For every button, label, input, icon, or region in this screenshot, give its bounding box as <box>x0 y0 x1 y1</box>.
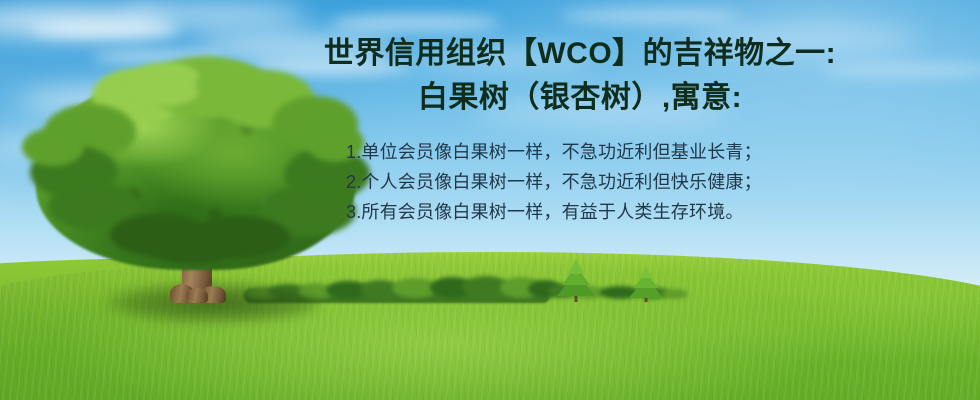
tree-root <box>186 288 208 303</box>
ginkgo-tree <box>0 0 980 400</box>
wco-mascot-banner: 世界信用组织【WCO】的吉祥物之一: 白果树（银杏树）,寓意: 1.单位会员像白… <box>0 0 980 400</box>
